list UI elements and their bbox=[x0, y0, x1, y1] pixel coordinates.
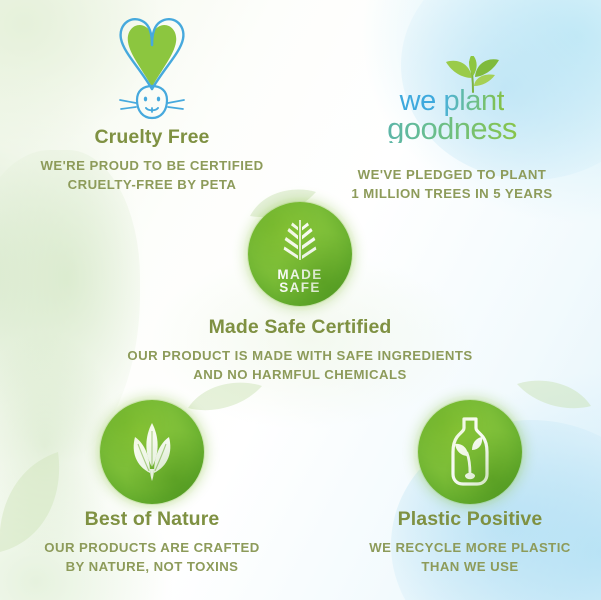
made-safe-badge-line-1: MADE bbox=[277, 268, 322, 281]
plastic-positive-badge-inner bbox=[418, 400, 522, 504]
best-of-nature-badge bbox=[100, 400, 204, 504]
we-plant-goodness-description: WE'VE PLEDGED TO PLANT 1 MILLION TREES I… bbox=[316, 166, 588, 203]
made-safe-badge-text: MADE SAFE bbox=[277, 268, 322, 294]
three-leaves-badge-icon bbox=[120, 419, 184, 485]
best-of-nature-line-1: OUR PRODUCTS ARE CRAFTED bbox=[18, 539, 286, 558]
best-of-nature-badge-inner bbox=[100, 400, 204, 504]
block-made-safe: MADE SAFE Made Safe Certified OUR PRODUC… bbox=[60, 200, 540, 384]
made-safe-title: Made Safe Certified bbox=[60, 316, 540, 339]
made-safe-line-1: OUR PRODUCT IS MADE WITH SAFE INGREDIENT… bbox=[60, 347, 540, 366]
eco-claims-poster: Cruelty Free WE'RE PROUD TO BE CERTIFIED… bbox=[0, 0, 601, 600]
made-safe-badge: MADE SAFE bbox=[248, 202, 352, 306]
made-safe-badge-line-2: SAFE bbox=[277, 281, 322, 294]
made-safe-line-2: AND NO HARMFUL CHEMICALS bbox=[60, 366, 540, 385]
block-best-of-nature: Best of Nature OUR PRODUCTS ARE CRAFTED … bbox=[18, 396, 286, 576]
block-we-plant-goodness: we plant goodness WE'VE PLEDGED TO PLANT… bbox=[316, 14, 588, 203]
plastic-positive-badge-wrap bbox=[336, 396, 601, 508]
made-safe-badge-wrap: MADE SAFE bbox=[60, 200, 540, 308]
plastic-positive-badge bbox=[418, 400, 522, 504]
best-of-nature-badge-wrap bbox=[18, 396, 286, 508]
block-cruelty-free: Cruelty Free WE'RE PROUD TO BE CERTIFIED… bbox=[18, 14, 286, 194]
plastic-positive-title: Plastic Positive bbox=[336, 508, 601, 531]
we-plant-goodness-logo: we plant goodness bbox=[316, 14, 588, 132]
plastic-positive-line-2: THAN WE USE bbox=[336, 558, 601, 577]
we-plant-goodness-line-1: WE'VE PLEDGED TO PLANT bbox=[316, 166, 588, 185]
cruelty-free-description: WE'RE PROUD TO BE CERTIFIED CRUELTY-FREE… bbox=[18, 157, 286, 194]
cruelty-free-icon-wrap bbox=[18, 14, 286, 126]
peta-bunny-heart-icon bbox=[106, 15, 198, 125]
made-safe-leaf-badge-icon bbox=[277, 218, 323, 266]
cruelty-free-line-2: CRUELTY-FREE BY PETA bbox=[18, 176, 286, 195]
best-of-nature-title: Best of Nature bbox=[18, 508, 286, 531]
cruelty-free-title: Cruelty Free bbox=[18, 126, 286, 149]
bottle-sprout-badge-icon bbox=[441, 416, 499, 488]
plastic-positive-description: WE RECYCLE MORE PLASTIC THAN WE USE bbox=[336, 539, 601, 576]
block-plastic-positive: Plastic Positive WE RECYCLE MORE PLASTIC… bbox=[336, 396, 601, 576]
made-safe-description: OUR PRODUCT IS MADE WITH SAFE INGREDIENT… bbox=[60, 347, 540, 384]
cruelty-free-line-1: WE'RE PROUD TO BE CERTIFIED bbox=[18, 157, 286, 176]
best-of-nature-line-2: BY NATURE, NOT TOXINS bbox=[18, 558, 286, 577]
made-safe-badge-inner: MADE SAFE bbox=[248, 202, 352, 306]
best-of-nature-description: OUR PRODUCTS ARE CRAFTED BY NATURE, NOT … bbox=[18, 539, 286, 576]
plastic-positive-line-1: WE RECYCLE MORE PLASTIC bbox=[336, 539, 601, 558]
logo-word-goodness: goodness bbox=[316, 115, 588, 144]
